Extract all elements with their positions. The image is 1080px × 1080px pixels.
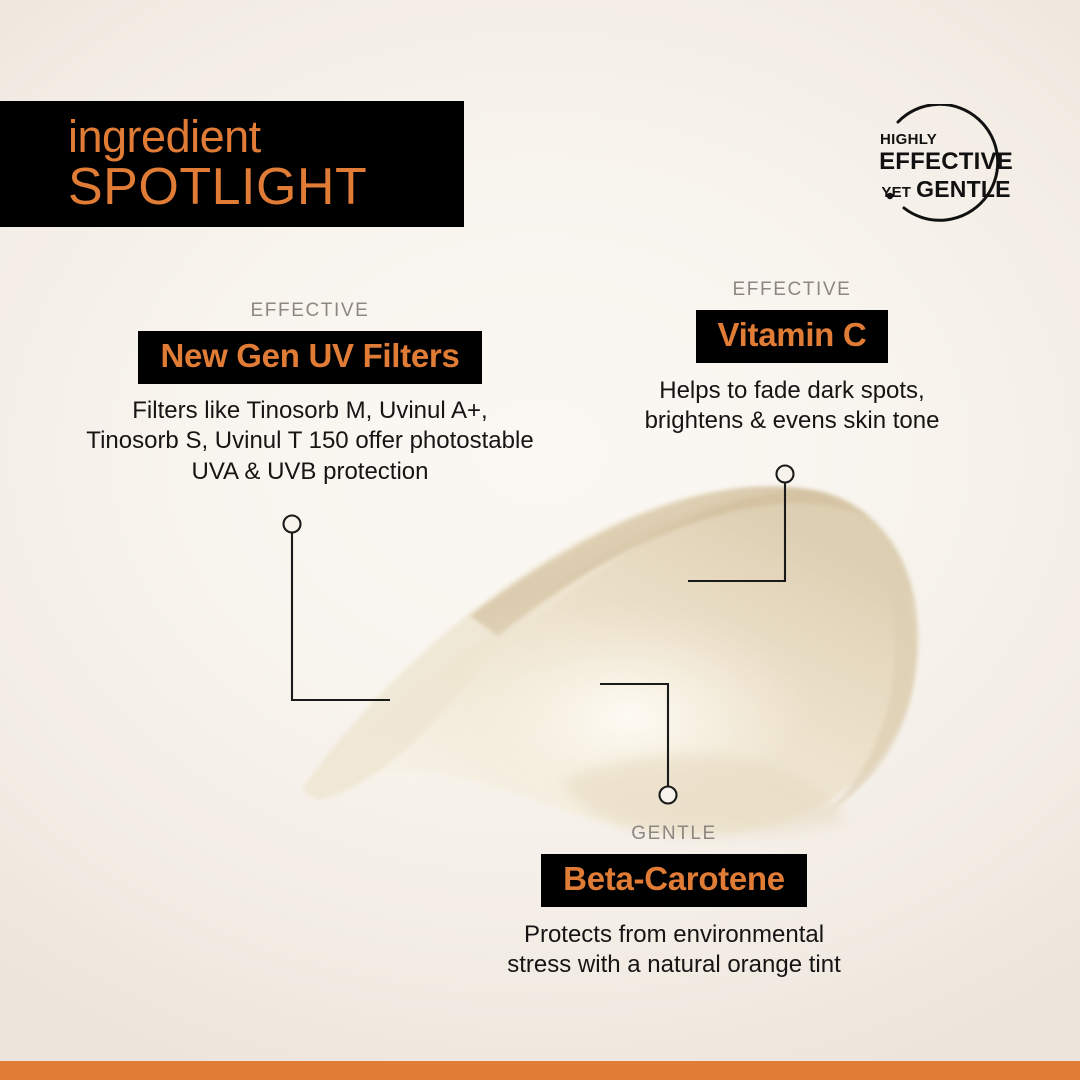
callout-beta-carotene-eyebrow: GENTLE — [450, 823, 898, 845]
circle-endpoint-uv-filters — [284, 516, 301, 533]
page-title: ingredient SPOTLIGHT — [0, 101, 464, 227]
callout-uv-filters-eyebrow: EFFECTIVE — [22, 300, 598, 322]
page-title-line-1: ingredient — [68, 115, 464, 159]
callout-uv-filters-description: Filters like Tinosorb M, Uvinul A+, Tino… — [22, 396, 598, 488]
callout-beta-carotene-description: Protects from environmental stress with … — [450, 920, 898, 981]
callout-vitamin-c-name: Vitamin C — [696, 310, 889, 363]
callout-vitamin-c: EFFECTIVE Vitamin C Helps to fade dark s… — [604, 279, 980, 437]
seal-text: HIGHLY EFFECTIVE YET GENTLE — [868, 104, 1024, 228]
leader-line-vitamin-c — [688, 466, 794, 582]
callout-vitamin-c-eyebrow: EFFECTIVE — [604, 279, 980, 301]
callout-vitamin-c-description: Helps to fade dark spots, brightens & ev… — [604, 376, 980, 437]
callout-beta-carotene: GENTLE Beta-Carotene Protects from envir… — [450, 823, 898, 981]
circle-endpoint-beta-carotene — [660, 787, 677, 804]
seal-line-3: YET GENTLE — [881, 178, 1010, 201]
bottom-accent-bar — [0, 1061, 1080, 1080]
seal-line-3-big: GENTLE — [916, 178, 1010, 201]
leader-line-uv-filters — [284, 516, 391, 701]
highly-effective-yet-gentle-seal: HIGHLY EFFECTIVE YET GENTLE — [868, 104, 1024, 228]
callout-beta-carotene-name: Beta-Carotene — [541, 854, 807, 907]
page-title-line-2: SPOTLIGHT — [68, 161, 464, 213]
seal-line-1: HIGHLY — [880, 132, 937, 147]
seal-line-3-small: YET — [881, 185, 911, 200]
circle-endpoint-vitamin-c — [777, 466, 794, 483]
callout-uv-filters-name: New Gen UV Filters — [138, 331, 481, 384]
callout-uv-filters: EFFECTIVE New Gen UV Filters Filters lik… — [22, 300, 598, 488]
infographic-canvas: ingredient SPOTLIGHT HIGHLY EFFECTIVE YE… — [0, 0, 1080, 1080]
leader-line-beta-carotene — [600, 684, 677, 804]
seal-line-2: EFFECTIVE — [879, 150, 1013, 174]
